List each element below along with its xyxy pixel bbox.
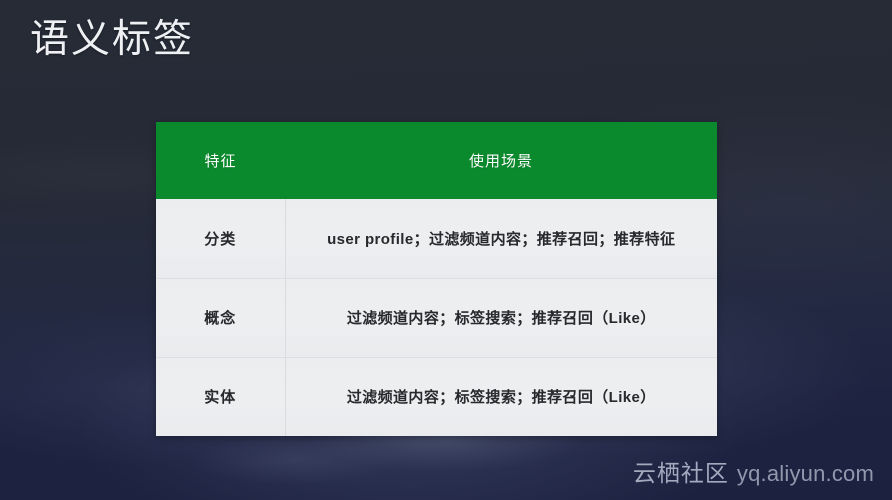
column-header-scene: 使用场景 bbox=[285, 122, 717, 199]
semantic-tag-table: 特征 使用场景 分类 user profile；过滤频道内容；推荐召回；推荐特征… bbox=[156, 122, 717, 436]
column-header-feature: 特征 bbox=[156, 122, 285, 199]
page-title: 语义标签 bbox=[30, 14, 194, 66]
cell-scene: 过滤频道内容；标签搜索；推荐召回（Like） bbox=[285, 278, 717, 357]
table-row: 分类 user profile；过滤频道内容；推荐召回；推荐特征 bbox=[156, 199, 717, 278]
table-header: 特征 使用场景 bbox=[156, 122, 717, 199]
cell-feature: 实体 bbox=[156, 357, 285, 436]
watermark: 云栖社区 yq.aliyun.com bbox=[633, 454, 874, 488]
watermark-brand: 云栖社区 bbox=[633, 454, 729, 488]
table-row: 实体 过滤频道内容；标签搜索；推荐召回（Like） bbox=[156, 357, 717, 436]
cell-feature: 分类 bbox=[156, 199, 285, 278]
cell-scene: 过滤频道内容；标签搜索；推荐召回（Like） bbox=[285, 357, 717, 436]
cell-scene: user profile；过滤频道内容；推荐召回；推荐特征 bbox=[285, 199, 717, 278]
cell-feature: 概念 bbox=[156, 278, 285, 357]
table-row: 概念 过滤频道内容；标签搜索；推荐召回（Like） bbox=[156, 278, 717, 357]
watermark-url: yq.aliyun.com bbox=[737, 461, 874, 487]
table-body: 分类 user profile；过滤频道内容；推荐召回；推荐特征 概念 过滤频道… bbox=[156, 199, 717, 436]
table-header-row: 特征 使用场景 bbox=[156, 122, 717, 199]
